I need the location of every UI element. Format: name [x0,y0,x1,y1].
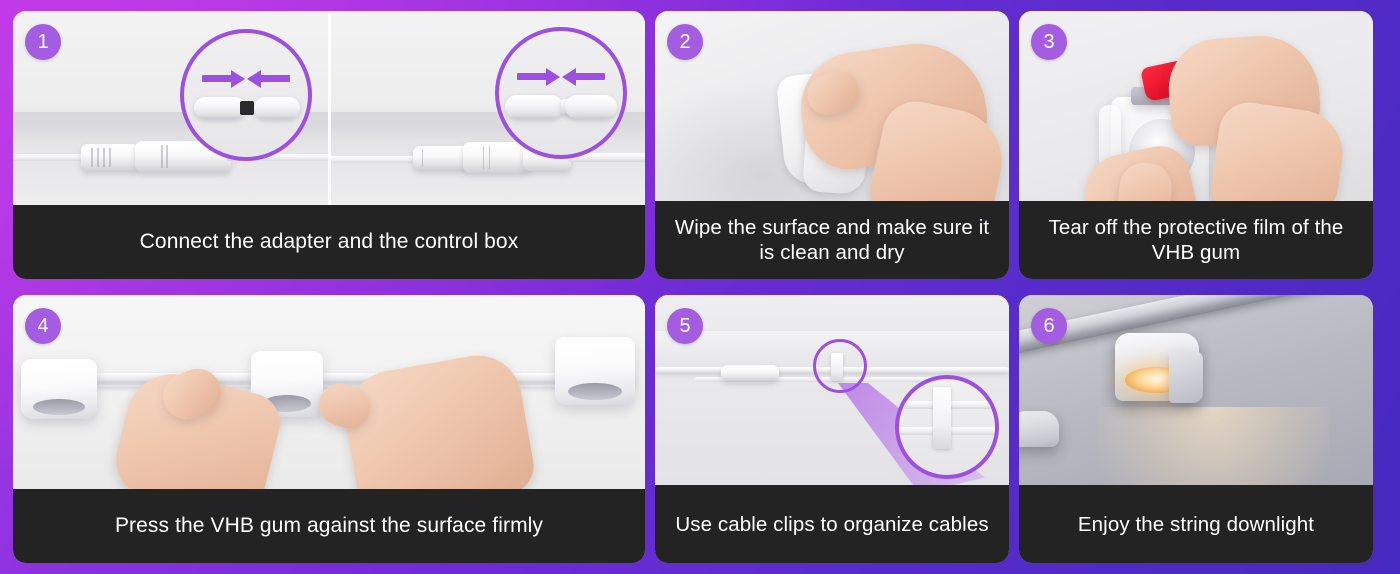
step-2-caption: Wipe the surface and make sure it is cle… [655,201,1009,279]
plug-male [565,95,617,119]
step-6-caption: Enjoy the string downlight [1019,485,1373,563]
magnifier-circle-1b [495,27,627,159]
connector-a [413,146,469,170]
step-3-photo: 3 [1019,11,1373,201]
step-4-photo: 4 [13,295,645,489]
step-card-1[interactable]: 1 [13,11,645,279]
step-card-4[interactable]: 4 Press the VHB gum against the surface … [13,295,645,563]
step-number-badge-4: 4 [25,308,61,344]
hand-upper-fingers [1208,99,1348,201]
downlight-left [21,359,97,419]
hand-right [338,349,538,489]
plug-female [194,97,246,119]
magnifier-source-circle [813,339,867,393]
connector-joint [463,142,529,173]
step-1-photo: 1 [13,11,645,205]
zoom-cable-clip [933,387,951,449]
step-6-photo: 6 [1019,295,1373,485]
step-4-caption: Press the VHB gum against the surface fi… [13,489,645,563]
wall-glow [1099,407,1329,485]
arrow-right-icon [202,75,232,82]
step-1-photo-right [328,11,646,205]
step-card-2[interactable]: 2 Wipe the surface and make sure it is c… [655,11,1009,279]
arrow-left-icon [260,75,290,82]
step-card-6[interactable]: 6 Enjoy the string downlight [1019,295,1373,563]
step-number-badge-5: 5 [667,308,703,344]
connector-strain-relief [81,144,139,171]
step-2-photo: 2 [655,11,1009,201]
inline-connector [721,365,779,381]
plug-pin [240,101,254,115]
plug-female [505,95,563,119]
installation-steps-poster: 1 [0,0,1400,574]
step-card-5[interactable]: 5 Use cable clips to organize cables [655,295,1009,563]
step-card-3[interactable]: 3 Tear off the protective film of the VH… [1019,11,1373,279]
downlight-right [555,337,635,405]
step-number-badge-1: 1 [25,24,61,60]
step-5-photo: 5 [655,295,1009,485]
steps-grid: 1 [13,11,1387,563]
step-number-badge-6: 6 [1031,308,1067,344]
step-5-caption: Use cable clips to organize cables [655,485,1009,563]
step-number-badge-2: 2 [667,24,703,60]
arrow-left-icon [575,73,605,80]
step-number-badge-3: 3 [1031,24,1067,60]
downlight-mount-arm [1169,351,1203,403]
step-3-caption: Tear off the protective film of the VHB … [1019,201,1373,279]
plug-male [254,97,300,119]
magnifier-zoom-circle [895,375,999,479]
cable-in [328,156,421,163]
downlight-distant [1019,411,1059,447]
arrow-right-icon [517,73,547,80]
step-1-caption: Connect the adapter and the control box [13,205,645,279]
magnifier-circle-1a [180,29,312,161]
